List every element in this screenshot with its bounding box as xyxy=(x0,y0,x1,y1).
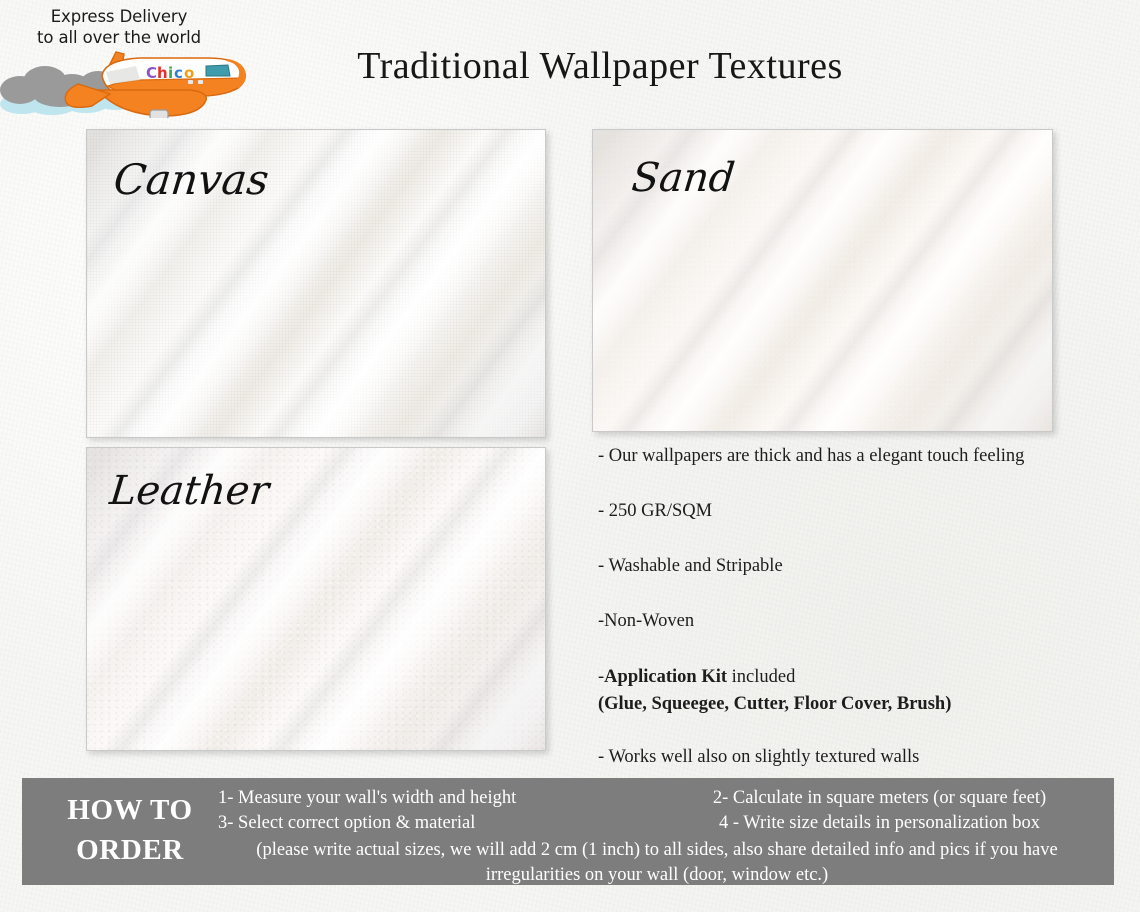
kit-bold-label: Application Kit xyxy=(604,667,727,687)
order-step-4: 4 - Write size details in personalizatio… xyxy=(657,811,1102,836)
svg-text:C: C xyxy=(146,64,157,82)
order-note: (please write actual sizes, we will add … xyxy=(212,838,1102,888)
express-delivery-line-2: to all over the world xyxy=(14,27,224,48)
express-delivery-line-1: Express Delivery xyxy=(14,6,224,27)
order-note-line-1: (please write actual sizes, we will add … xyxy=(212,838,1102,863)
texture-label-canvas: Canvas xyxy=(111,155,271,204)
feature-item-application-kit: -Application Kit included(Glue, Squeegee… xyxy=(598,666,1118,716)
how-to-order-band: HOW TO ORDER 1- Measure your wall's widt… xyxy=(22,778,1114,885)
header: Express Delivery to all over the world xyxy=(0,0,1140,120)
order-step-3: 3- Select correct option & material xyxy=(212,811,657,836)
page-title: Traditional Wallpaper Textures xyxy=(300,44,900,88)
order-steps-grid: 1- Measure your wall's width and height … xyxy=(212,786,1102,836)
svg-text:h: h xyxy=(157,64,168,82)
texture-label-leather: Leather xyxy=(108,468,272,514)
kit-included-label: included xyxy=(727,667,795,687)
features-list: - Our wallpapers are thick and has a ele… xyxy=(598,445,1118,801)
order-step-2: 2- Calculate in square meters (or square… xyxy=(657,786,1102,811)
feature-item-thickness: - Our wallpapers are thick and has a ele… xyxy=(598,445,1118,468)
order-step-1: 1- Measure your wall's width and height xyxy=(212,786,657,811)
how-to-order-title: HOW TO ORDER xyxy=(32,790,228,870)
express-delivery-tagline: Express Delivery to all over the world xyxy=(14,6,224,48)
feature-item-washable: - Washable and Stripable xyxy=(598,555,1118,578)
kit-contents-label: (Glue, Squeegee, Cutter, Floor Cover, Br… xyxy=(598,693,1118,716)
feature-item-non-woven: -Non-Woven xyxy=(598,610,1118,633)
feature-item-textured-walls: - Works well also on slightly textured w… xyxy=(598,746,1118,769)
svg-text:o: o xyxy=(184,64,194,82)
order-note-line-2: irregularities on your wall (door, windo… xyxy=(212,863,1102,888)
feature-item-weight: - 250 GR/SQM xyxy=(598,500,1118,523)
how-to-order-title-line-1: HOW TO xyxy=(32,790,228,830)
svg-text:i: i xyxy=(168,64,173,82)
svg-text:c: c xyxy=(174,64,183,82)
chico-wordmark: C h i c o xyxy=(146,64,194,82)
chico-airplane-logo: C h i c o xyxy=(0,46,270,118)
how-to-order-title-line-2: ORDER xyxy=(32,830,228,870)
texture-label-sand: Sand xyxy=(630,155,737,201)
